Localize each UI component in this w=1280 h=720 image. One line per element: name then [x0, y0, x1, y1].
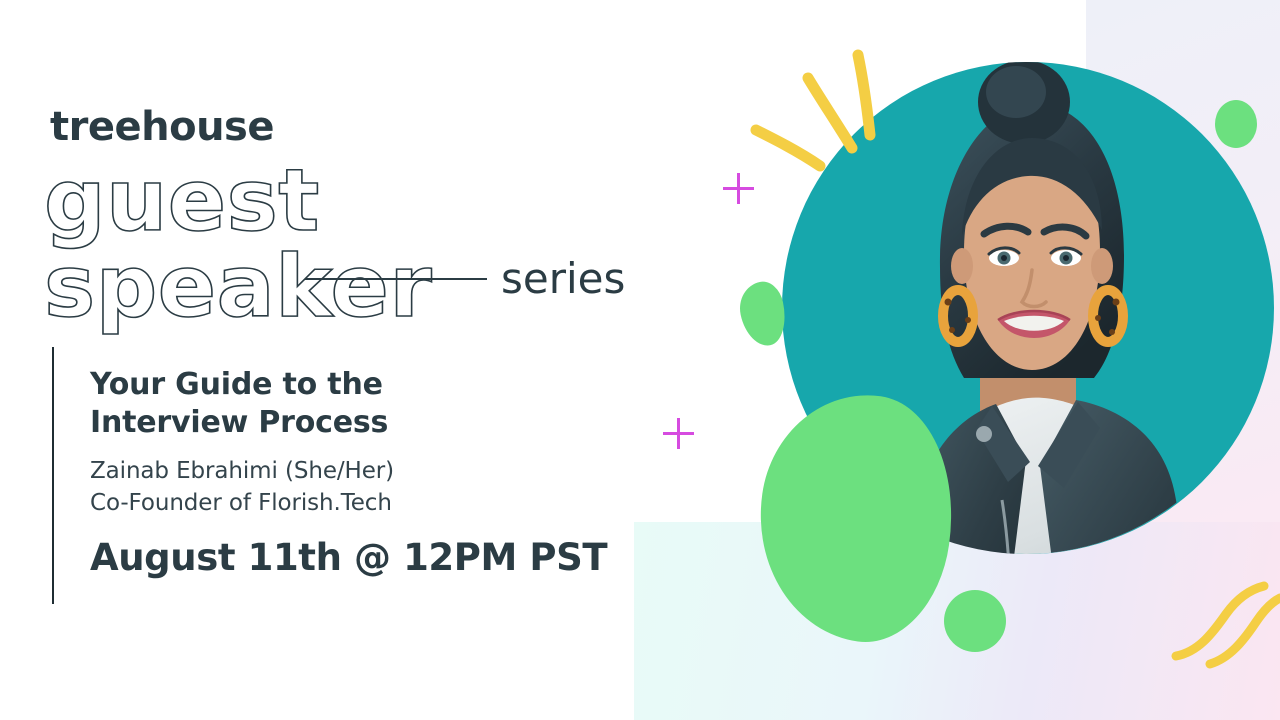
talk-title-line-2: Interview Process — [90, 405, 388, 440]
headline-guest-speaker: guest speaker — [44, 158, 660, 330]
series-divider-rule — [305, 278, 487, 280]
speaker-name: Zainab Ebrahimi (She/Her) — [90, 455, 630, 488]
event-date-time: August 11th @ 12PM PST — [90, 538, 630, 579]
talk-title: Your Guide to the Interview Process — [90, 366, 630, 443]
series-label: series — [501, 258, 625, 300]
text-column: treehouse guest speaker series Your Guid… — [0, 0, 660, 720]
green-circle-top — [1215, 100, 1257, 148]
event-details: Your Guide to the Interview Process Zain… — [90, 366, 630, 579]
speaker-role: Co-Founder of Florish.Tech — [90, 487, 630, 520]
slide-canvas: treehouse guest speaker series Your Guid… — [0, 0, 1280, 720]
green-circle-bottom — [944, 590, 1006, 652]
detail-accent-rule — [52, 347, 54, 604]
treehouse-wordmark: treehouse — [50, 104, 274, 150]
plus-mark-middle-icon — [663, 418, 694, 449]
series-row: series — [305, 256, 625, 302]
talk-title-line-1: Your Guide to the — [90, 367, 383, 402]
plus-mark-top-icon — [723, 173, 754, 204]
